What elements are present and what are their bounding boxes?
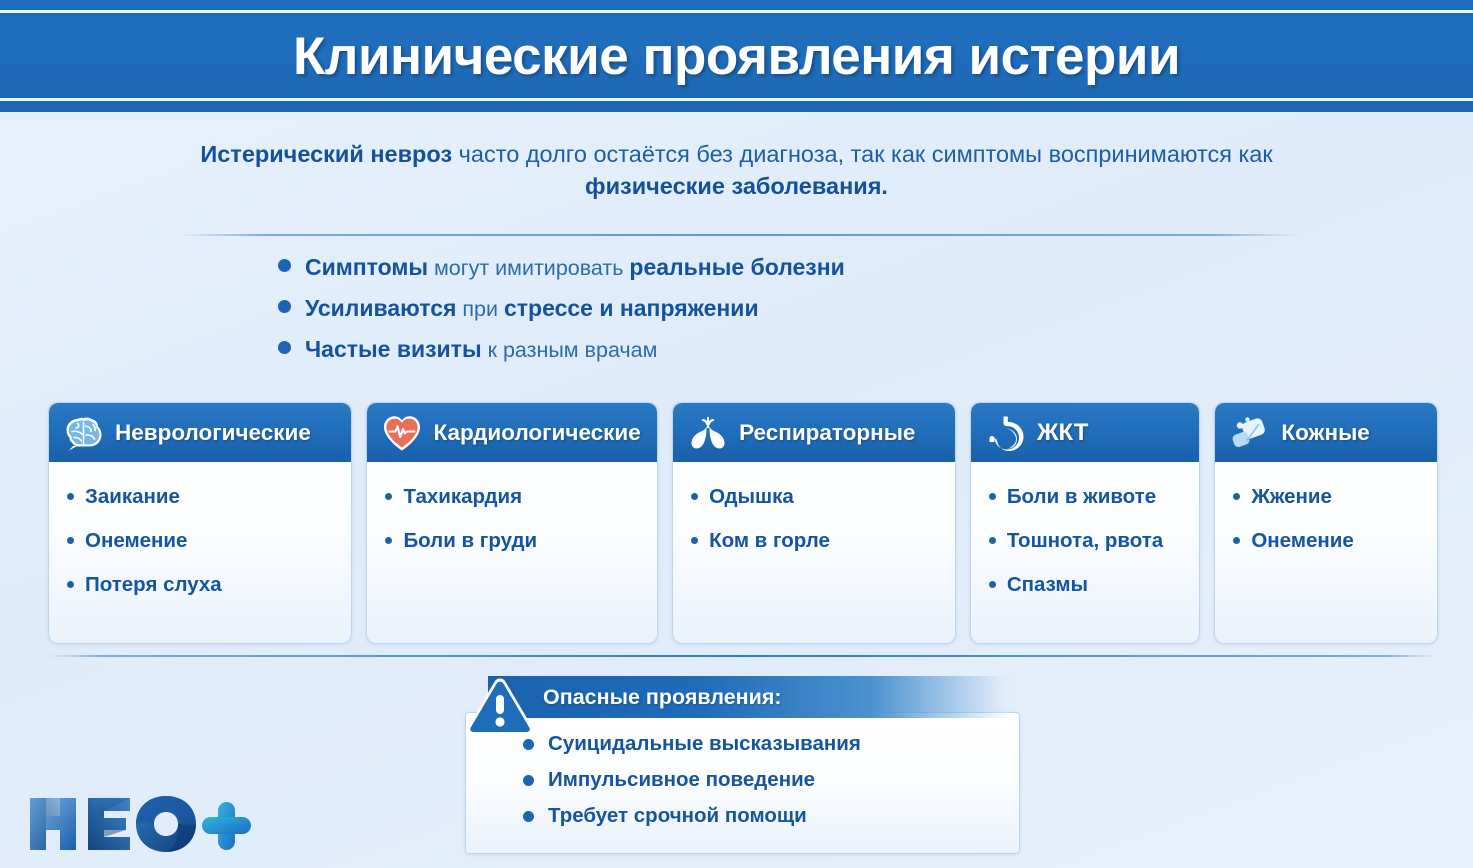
bullet-dot-icon [278, 341, 291, 354]
list-item: Потеря слуха [67, 572, 337, 598]
bullet-dot-icon [523, 775, 534, 786]
bullet-normal-text: к разным врачам [482, 338, 658, 362]
card-respiratory: Респираторные Одышка Ком в горле [672, 402, 956, 644]
page-title: Клинические проявления истерии [0, 0, 1473, 112]
heart-pulse-icon [381, 414, 423, 452]
list-item-label: Заикание [85, 484, 180, 510]
lungs-icon [687, 414, 729, 452]
symptom-category-cards: Неврологические Заикание Онемение Потеря… [48, 402, 1438, 644]
brain-icon [63, 414, 105, 452]
list-item-label: Онемение [85, 528, 187, 554]
divider-bottom [48, 655, 1438, 657]
stomach-icon [985, 414, 1027, 452]
card-title: Неврологические [115, 420, 311, 446]
card-dermatological: Кожные Жжение Онемение [1214, 402, 1438, 644]
bullet-dot-icon [523, 811, 534, 822]
list-item: Спазмы [989, 572, 1186, 598]
list-item-label: Одышка [709, 484, 794, 510]
bullet-dot-icon [278, 300, 291, 313]
bullet-dot-icon [385, 493, 392, 500]
card-header: Кардиологические [367, 403, 657, 462]
card-header: Кожные [1215, 403, 1437, 462]
card-neurological: Неврологические Заикание Онемение Потеря… [48, 402, 352, 644]
intro-emphasis: физические заболевания. [585, 173, 888, 199]
card-header: Неврологические [49, 403, 351, 462]
list-item-label: Тошнота, рвота [1007, 528, 1163, 554]
bullet-dot-icon [67, 537, 74, 544]
list-item-label: Ком в горле [709, 528, 830, 554]
bullet-normal-text: могут имитировать [428, 256, 629, 280]
bullet-bold-lead: Усиливаются [305, 295, 456, 321]
list-item: Усиливаются при стрессе и напряжении [278, 295, 845, 322]
list-item: Тошнота, рвота [989, 528, 1186, 554]
card-title: Респираторные [739, 420, 915, 446]
list-item: Частые визиты к разным врачам [278, 336, 845, 363]
list-item-label: Потеря слуха [85, 572, 222, 598]
list-item: Симптомы могут имитировать реальные боле… [278, 254, 845, 281]
intro-lead: Истерический невроз [200, 141, 452, 167]
key-points-list: Симптомы могут имитировать реальные боле… [278, 254, 845, 377]
list-item-label: Частые визиты к разным врачам [305, 336, 657, 363]
bullet-dot-icon [278, 259, 291, 272]
list-item: Тахикардия [385, 484, 643, 510]
list-item-label: Боли в груди [403, 528, 537, 554]
bullet-normal-text: при [456, 297, 504, 321]
bullet-bold-tail: реальные болезни [629, 254, 844, 280]
divider-top [178, 234, 1298, 236]
intro-paragraph: Истерический невроз часто долго остаётся… [150, 138, 1323, 202]
intro-middle: часто долго остаётся без диагноза, так к… [452, 141, 1273, 167]
list-item: Онемение [1233, 528, 1423, 554]
card-body: Боли в животе Тошнота, рвота Спазмы [971, 462, 1200, 626]
bullet-dot-icon [67, 581, 74, 588]
brand-logo [26, 790, 266, 856]
bullet-bold-tail: стрессе и напряжении [504, 295, 759, 321]
bullet-dot-icon [691, 537, 698, 544]
list-item: Заикание [67, 484, 337, 510]
bullet-dot-icon [523, 739, 534, 750]
list-item-label: Онемение [1251, 528, 1353, 554]
bullet-dot-icon [1233, 493, 1240, 500]
list-item-label: Жжение [1251, 484, 1332, 510]
card-body: Тахикардия Боли в груди [367, 462, 657, 582]
list-item-label: Суицидальные высказывания [548, 732, 861, 756]
danger-signs-title: Опасные проявления: [543, 676, 782, 718]
danger-signs-list: Суицидальные высказывания Импульсивное п… [523, 732, 861, 840]
bullet-dot-icon [989, 537, 996, 544]
list-item: Требует срочной помощи [523, 804, 861, 828]
list-item-label: Усиливаются при стрессе и напряжении [305, 295, 759, 322]
list-item: Онемение [67, 528, 337, 554]
bullet-dot-icon [67, 493, 74, 500]
bullet-dot-icon [989, 581, 996, 588]
card-body: Заикание Онемение Потеря слуха [49, 462, 351, 626]
header-banner: Клинические проявления истерии [0, 0, 1473, 112]
list-item-label: Боли в животе [1007, 484, 1156, 510]
bullet-dot-icon [989, 493, 996, 500]
list-item: Боли в груди [385, 528, 643, 554]
list-item-label: Требует срочной помощи [548, 804, 807, 828]
card-gastrointestinal: ЖКТ Боли в животе Тошнота, рвота Спазмы [970, 402, 1201, 644]
card-header: Респираторные [673, 403, 955, 462]
bullet-dot-icon [1233, 537, 1240, 544]
bullet-dot-icon [385, 537, 392, 544]
card-body: Жжение Онемение [1215, 462, 1437, 582]
card-cardiological: Кардиологические Тахикардия Боли в груди [366, 402, 658, 644]
list-item: Жжение [1233, 484, 1423, 510]
list-item: Ком в горле [691, 528, 941, 554]
warning-triangle-icon [465, 676, 537, 736]
bullet-bold-lead: Частые визиты [305, 336, 482, 362]
list-item-label: Тахикардия [403, 484, 522, 510]
list-item: Одышка [691, 484, 941, 510]
list-item-label: Импульсивное поведение [548, 768, 815, 792]
danger-signs-panel: Опасные проявления: Суицидальные высказы… [465, 676, 1020, 854]
list-item-label: Симптомы могут имитировать реальные боле… [305, 254, 845, 281]
card-title: Кардиологические [433, 420, 640, 446]
list-item: Импульсивное поведение [523, 768, 861, 792]
list-item-label: Спазмы [1007, 572, 1088, 598]
list-item: Боли в животе [989, 484, 1186, 510]
skin-patch-icon [1229, 414, 1271, 452]
card-body: Одышка Ком в горле [673, 462, 955, 582]
bullet-bold-lead: Симптомы [305, 254, 428, 280]
card-header: ЖКТ [971, 403, 1200, 462]
bullet-dot-icon [691, 493, 698, 500]
card-title: Кожные [1281, 420, 1369, 446]
card-title: ЖКТ [1037, 419, 1089, 447]
list-item: Суицидальные высказывания [523, 732, 861, 756]
